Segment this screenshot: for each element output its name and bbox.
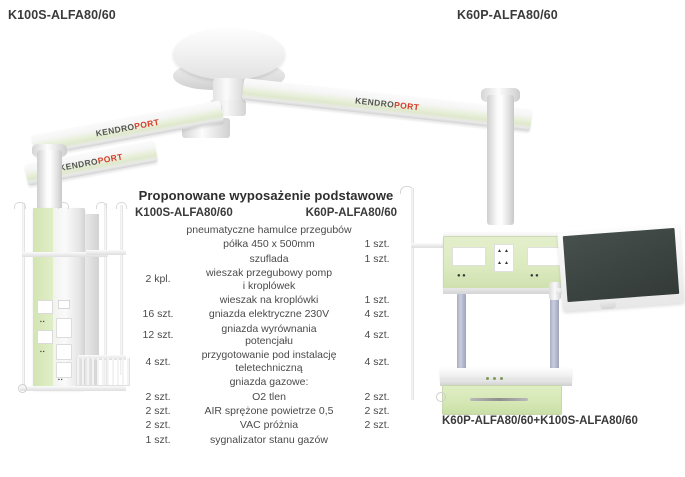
right-unit-shelf-lip — [440, 380, 572, 386]
spec-item-label: VAC próżnia — [181, 418, 357, 432]
right-unit-shelf — [440, 368, 572, 382]
logo-port-text: PORT — [394, 100, 420, 113]
right-unit-head-base — [443, 288, 571, 294]
left-pendant-white-panel — [37, 330, 53, 344]
ceiling-mount-disc — [173, 28, 285, 80]
right-unit-leg — [550, 294, 559, 400]
right-support-column — [487, 95, 514, 225]
spec-qty-right: 2 szt. — [357, 404, 397, 418]
rail-crossbar — [78, 355, 126, 360]
pendant-arm-primary: KENDROPORT — [242, 78, 533, 131]
iv-hook-icon — [58, 202, 69, 209]
power-socket-icon: ●● — [457, 273, 467, 279]
spec-qty-left — [135, 223, 181, 237]
spec-item-label: sygnalizator stanu gazów — [181, 433, 357, 447]
shelf-indicator-light — [493, 377, 496, 380]
spec-row: 4 szt.przygotowanie pod instalacjętelete… — [135, 348, 397, 375]
logo-port-text: PORT — [97, 151, 124, 165]
spec-row: wieszak na kroplówki1 szt. — [135, 293, 397, 307]
ceiling-mount-hub — [213, 78, 243, 108]
spec-qty-right — [357, 433, 397, 447]
monitor-frame — [557, 224, 684, 312]
spec-item-label: gniazda gazowe: — [181, 375, 357, 389]
gas-outlet-icon: ▲▲ — [497, 261, 511, 266]
monitor-neck — [600, 299, 617, 309]
left-pendant-body — [33, 208, 85, 390]
spec-item-label: gniazda elektryczne 230V — [181, 307, 357, 321]
product-title-right: K60P-ALFA80/60 — [457, 8, 558, 22]
spec-row: pneumatyczne hamulce przegubów — [135, 223, 397, 237]
spec-qty-left — [135, 252, 181, 266]
ceiling-mount-hub-cap — [210, 100, 246, 116]
left-pendant-module-panel — [56, 318, 72, 338]
iv-hook-icon — [14, 202, 26, 209]
spec-qty-right — [357, 266, 397, 293]
arm-joint-vertical — [196, 104, 222, 138]
left-pendant-side-face — [85, 214, 99, 386]
spec-qty-right: 4 szt. — [357, 348, 397, 375]
left-pendant-socket-dots: ▪▪ — [40, 350, 46, 355]
logo-kendro-text: KENDRO — [58, 156, 98, 173]
spec-qty-right — [357, 375, 397, 389]
spec-qty-left — [135, 375, 181, 389]
spec-qty-left — [135, 293, 181, 307]
right-unit-drawer — [442, 385, 562, 415]
drawer-handle — [470, 398, 528, 401]
right-unit-service-head — [443, 236, 571, 290]
equipment-spec-block: Proponowane wyposażenie podstawowe K100S… — [135, 188, 397, 447]
spec-qty-left: 12 szt. — [135, 322, 181, 349]
spec-item-label: AIR sprężone powietrze 0,5 — [181, 404, 357, 418]
combined-config-caption: K60P-ALFA80/60+K100S-ALFA80/60 — [442, 415, 638, 427]
spec-qty-left — [135, 237, 181, 251]
spec-qty-right — [357, 223, 397, 237]
logo-kendro-text: KENDRO — [355, 95, 395, 109]
spec-item-label: wieszak przegubowy pompi kroplówek — [181, 266, 357, 293]
spec-header-right: K60P-ALFA80/60 — [306, 207, 397, 219]
shelf-indicator-light — [486, 377, 489, 380]
spec-qty-right: 1 szt. — [357, 293, 397, 307]
spec-qty-right: 2 szt. — [357, 418, 397, 432]
spec-row: półka 450 x 500mm1 szt. — [135, 237, 397, 251]
kendroport-logo: KENDROPORT — [95, 117, 160, 139]
iv-hook-icon — [116, 202, 127, 209]
monitor-screen — [563, 228, 680, 302]
pendant-arm-secondary: KENDROPORT — [31, 100, 224, 157]
spec-qty-left: 2 szt. — [135, 418, 181, 432]
spec-qty-right: 1 szt. — [357, 237, 397, 251]
product-title-left: K100S-ALFA80/60 — [8, 8, 116, 22]
product-sheet-page: K100S-ALFA80/60 K60P-ALFA80/60 KENDROPOR… — [0, 0, 685, 477]
left-column-cap — [32, 144, 67, 157]
spec-qty-left: 1 szt. — [135, 433, 181, 447]
left-pendant-socket-dots: ▪▪ — [58, 378, 64, 383]
iv-pole-tall — [411, 188, 414, 400]
monitor-support-arm — [556, 285, 604, 294]
spec-table-body: pneumatyczne hamulce przegubówpółka 450 … — [135, 223, 397, 447]
iv-hook-icon — [96, 202, 107, 209]
rail-crossbar — [411, 243, 445, 248]
spec-row: 12 szt.gniazda wyrównaniapotencjału4 szt… — [135, 322, 397, 349]
left-pendant-white-panel — [37, 300, 53, 314]
spec-row: 16 szt.gniazda elektryczne 230V4 szt. — [135, 307, 397, 321]
spec-table: pneumatyczne hamulce przegubówpółka 450 … — [135, 223, 397, 447]
spec-heading: Proponowane wyposażenie podstawowe — [135, 188, 397, 203]
spec-row: 2 kpl.wieszak przegubowy pompi kroplówek — [135, 266, 397, 293]
iv-pole-right — [120, 205, 123, 375]
spec-qty-left: 2 szt. — [135, 390, 181, 404]
rail-crossbar — [20, 386, 126, 391]
spec-item-label: pneumatyczne hamulce przegubów — [181, 223, 357, 237]
spec-qty-left: 2 kpl. — [135, 266, 181, 293]
left-pendant-socket-dots: ▪▪ — [40, 320, 46, 325]
spec-qty-right: 4 szt. — [357, 307, 397, 321]
caster-wheel-icon — [18, 384, 27, 393]
spec-qty-left: 2 szt. — [135, 404, 181, 418]
spec-item-label: gniazda wyrównaniapotencjału — [181, 322, 357, 349]
rail-crossbar — [86, 250, 126, 255]
right-unit-module-panel — [527, 247, 561, 266]
spec-header-left: K100S-ALFA80/60 — [135, 207, 233, 219]
spec-item-label: szuflada — [181, 252, 357, 266]
spec-item-label: półka 450 x 500mm — [181, 237, 357, 251]
right-unit-module-panel — [452, 247, 486, 266]
iv-pole-center — [104, 203, 107, 391]
spec-qty-left: 4 szt. — [135, 348, 181, 375]
iv-hook-icon — [400, 186, 414, 194]
left-pendant-gas-outlet-panel — [58, 300, 70, 309]
spec-row: 2 szt.O2 tlen2 szt. — [135, 390, 397, 404]
spec-qty-right: 1 szt. — [357, 252, 397, 266]
equipment-basket — [76, 358, 130, 386]
rail-crossbar — [22, 252, 108, 257]
arm-joint-horizontal — [182, 118, 230, 138]
spec-row: 1 szt.sygnalizator stanu gazów — [135, 433, 397, 447]
right-unit-leg — [457, 294, 466, 372]
logo-kendro-text: KENDRO — [95, 122, 135, 139]
left-pendant-module-panel — [56, 362, 72, 378]
spec-qty-right: 2 szt. — [357, 390, 397, 404]
power-socket-icon: ●● — [530, 273, 540, 279]
spec-item-label: O2 tlen — [181, 390, 357, 404]
left-pendant-module-panel — [56, 344, 72, 360]
left-pendant-green-panel — [33, 208, 53, 390]
logo-port-text: PORT — [133, 117, 160, 131]
spec-qty-left: 16 szt. — [135, 307, 181, 321]
right-unit-head-top — [443, 232, 571, 239]
monitor-pivot — [549, 282, 561, 300]
spec-row: 2 szt.AIR sprężone powietrze 0,52 szt. — [135, 404, 397, 418]
iv-pole-left — [22, 203, 25, 391]
spec-item-label: wieszak na kroplówki — [181, 293, 357, 307]
spec-column-headers: K100S-ALFA80/60 K60P-ALFA80/60 — [135, 207, 397, 219]
spec-row: szuflada1 szt. — [135, 252, 397, 266]
right-unit-gas-outlet-panel — [494, 244, 514, 272]
right-column-cap — [481, 88, 520, 102]
kendroport-logo: KENDROPORT — [58, 151, 123, 173]
spec-row: gniazda gazowe: — [135, 375, 397, 389]
gas-outlet-icon: ▲▲ — [497, 249, 511, 254]
spec-row: 2 szt.VAC próżnia2 szt. — [135, 418, 397, 432]
left-support-column — [37, 150, 62, 212]
spec-qty-right: 4 szt. — [357, 322, 397, 349]
ceiling-mount-disc-shadow — [173, 62, 285, 90]
spec-item-label: przygotowanie pod instalacjęteletechnicz… — [181, 348, 357, 375]
shelf-indicator-light — [500, 377, 503, 380]
kendroport-logo: KENDROPORT — [355, 95, 420, 112]
pendant-arm-tertiary: KENDROPORT — [24, 140, 158, 186]
caster-wheel-icon — [436, 392, 446, 402]
